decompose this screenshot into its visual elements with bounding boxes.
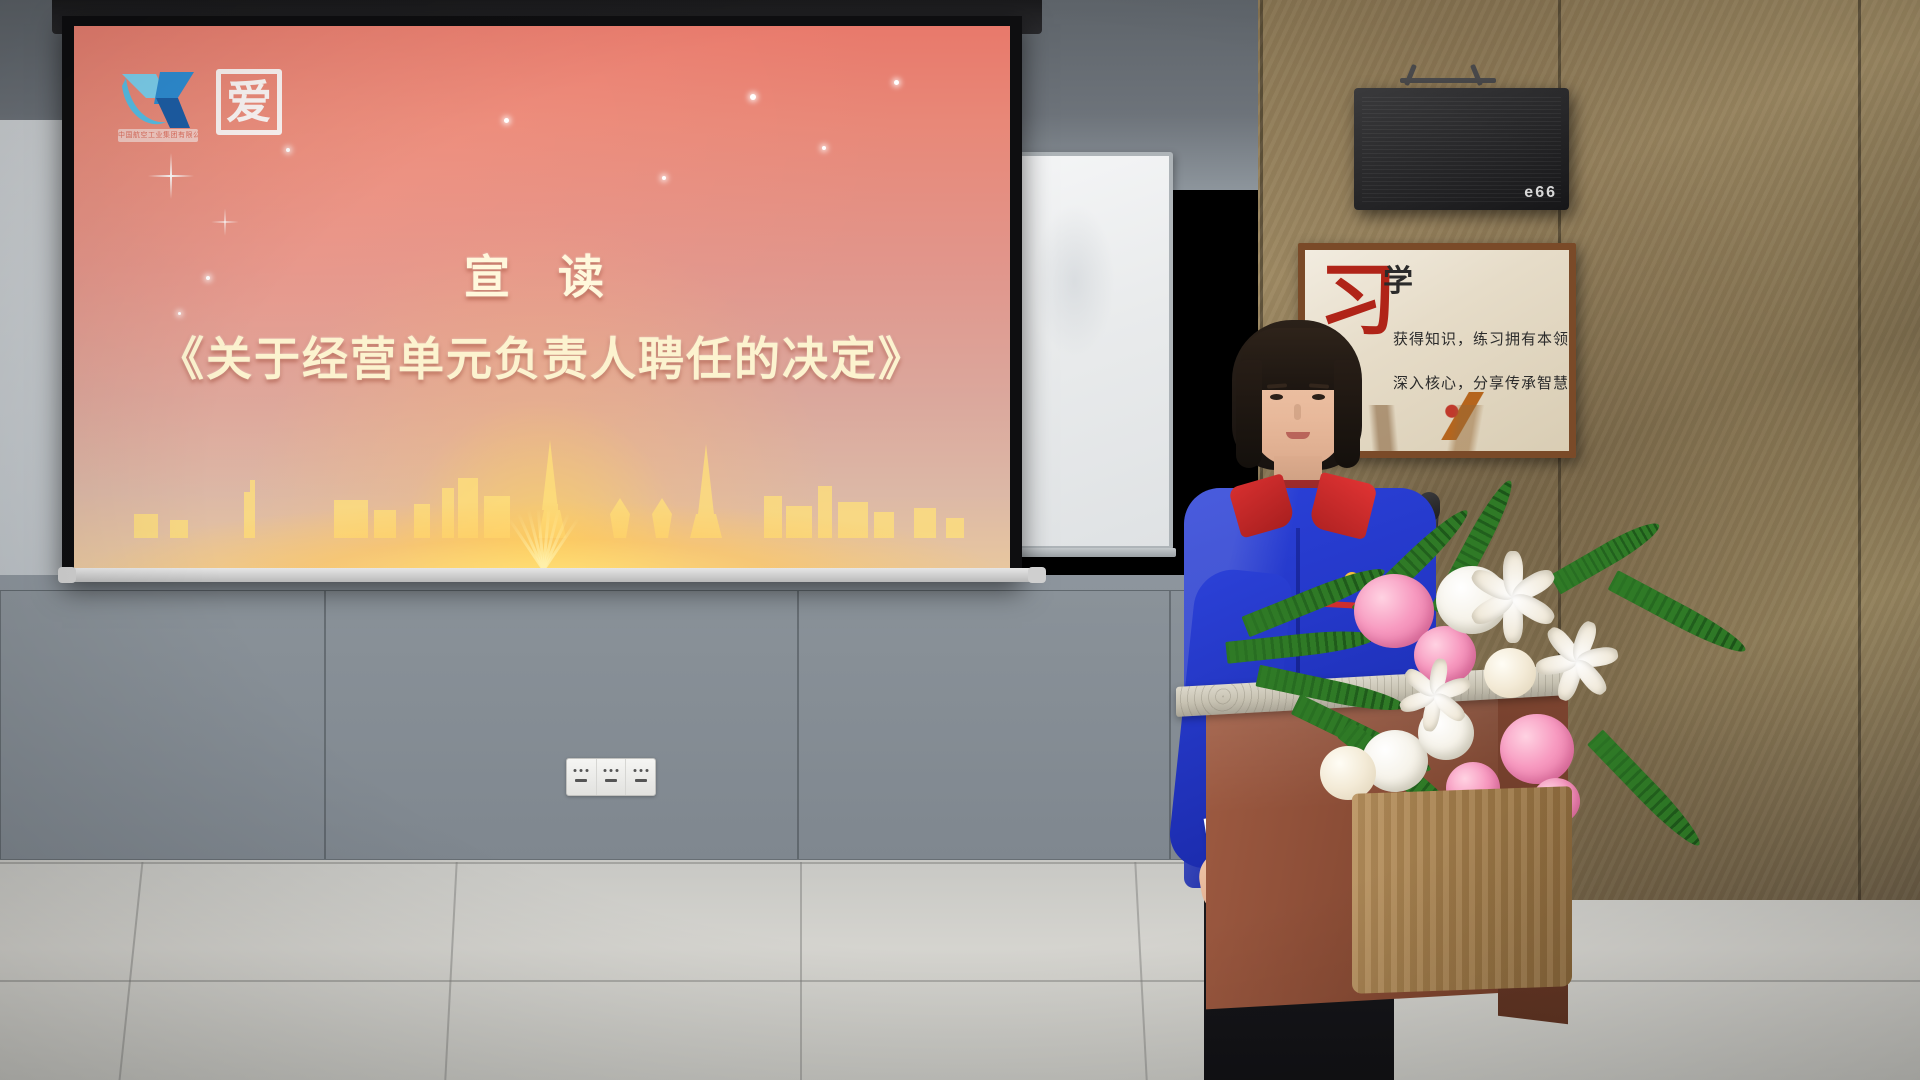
sparkle-dot (286, 148, 290, 152)
eye (1270, 394, 1283, 400)
cream-flower (1484, 648, 1536, 698)
white-lily (1399, 659, 1471, 731)
wall-cabinet-panel (798, 590, 1170, 860)
room-photo-scene: e66 习 学 获得知识，练习拥有本领 深入核心，分享传承智慧 (0, 0, 1920, 1080)
cream-flower (1320, 746, 1376, 800)
company-logo-caption: 中国航空工业集团有限公司 (118, 129, 198, 142)
fern-leaf (1608, 570, 1751, 660)
eye (1312, 394, 1325, 400)
projection-screen[interactable]: 中国航空工业集团有限公司 爱 宣 读 《关于经营单元负责人聘任的决定》 (62, 16, 1022, 582)
flower-basket (1352, 786, 1572, 994)
mouth (1286, 432, 1310, 439)
company-logo-icon: 中国航空工业集团有限公司 (116, 64, 200, 140)
road-light-glow (74, 500, 1010, 570)
flower-bouquet (1232, 530, 1920, 1030)
wall-cabinet-panel (0, 590, 325, 860)
hair-side (1334, 360, 1360, 468)
outlet-socket[interactable] (567, 759, 597, 795)
slide-title: 宣 读 (74, 241, 1010, 307)
seal-character: 爱 (221, 74, 277, 130)
wall-power-outlet[interactable] (566, 758, 656, 796)
seal-logo-icon: 爱 (216, 69, 282, 135)
sparkle-dot (822, 146, 826, 150)
speaker-brand-label: e66 (1524, 184, 1557, 202)
sparkle-dot (894, 80, 899, 85)
slide-subtitle: 《关于经营单元负责人聘任的决定》 (74, 323, 1010, 389)
presentation-slide: 中国航空工业集团有限公司 爱 宣 读 《关于经营单元负责人聘任的决定》 (74, 26, 1010, 570)
ceiling-speaker: e66 (1354, 88, 1569, 210)
pink-rose (1500, 714, 1574, 784)
white-lily (1537, 621, 1618, 702)
sparkle-dot (662, 176, 666, 180)
speaker-mount-bracket (1400, 64, 1496, 90)
outlet-socket[interactable] (597, 759, 627, 795)
slide-text-block: 宣 读 《关于经营单元负责人聘任的决定》 (74, 241, 1010, 389)
projector-screen-weight-bar[interactable] (62, 568, 1042, 582)
slide-logo-group: 中国航空工业集团有限公司 爱 (116, 64, 282, 140)
outlet-socket[interactable] (626, 759, 655, 795)
plaque-small-character: 学 (1383, 256, 1413, 300)
nose (1294, 404, 1301, 420)
sparkle-dot (750, 94, 756, 100)
wall-cabinet-panel (325, 590, 798, 860)
sparkle-dot (504, 118, 509, 123)
fern-leaf (1587, 729, 1707, 852)
hair-side (1236, 360, 1262, 468)
floor-seam (800, 862, 802, 1080)
